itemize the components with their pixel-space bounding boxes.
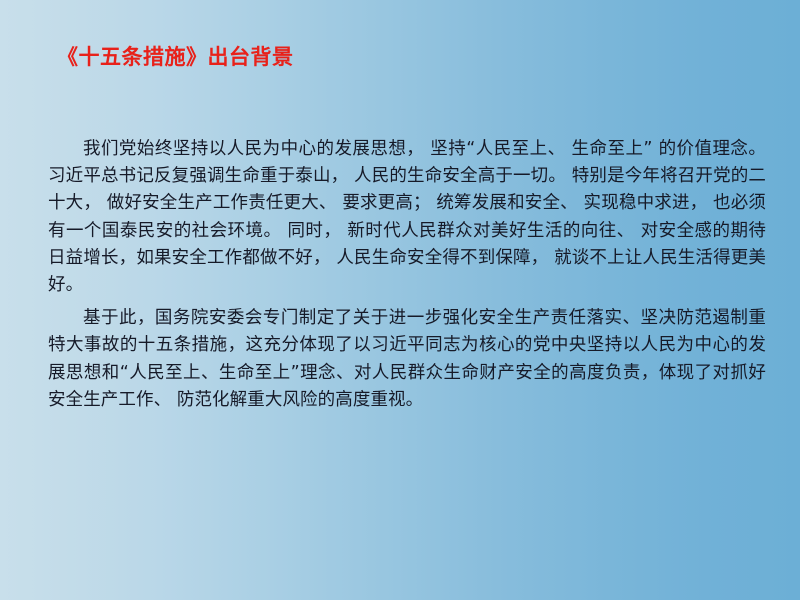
- presentation-slide: 《十五条措施》出台背景 我们党始终坚持以人民为中心的发展思想， 坚持“人民至上、…: [0, 0, 800, 600]
- body-paragraph-1: 我们党始终坚持以人民为中心的发展思想， 坚持“人民至上、 生命至上” 的价值理念…: [48, 136, 766, 299]
- body-paragraph-2: 基于此，国务院安委会专门制定了关于进一步强化安全生产责任落实、坚决防范遏制重特大…: [48, 305, 766, 414]
- slide-title: 《十五条措施》出台背景: [57, 43, 294, 71]
- slide-body: 我们党始终坚持以人民为中心的发展思想， 坚持“人民至上、 生命至上” 的价值理念…: [48, 136, 766, 414]
